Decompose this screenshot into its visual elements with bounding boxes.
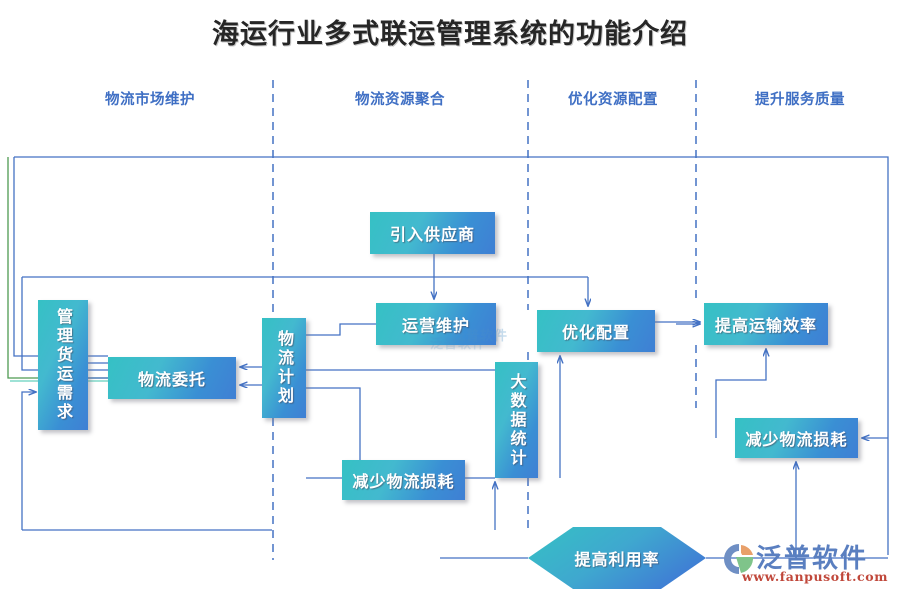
logo-website-url: www.fanpusoft.com — [742, 569, 888, 584]
diagram-canvas: 海运行业多式联运管理系统的功能介绍 物流市场维护物流资源聚合优化资源配置提升服务… — [0, 0, 900, 600]
node-optimize-config[interactable]: 优化配置 — [537, 310, 655, 352]
node-manage-freight-demand[interactable]: 管理货运需求 — [38, 300, 88, 430]
column-header-0: 物流市场维护 — [80, 88, 220, 109]
brand-logo: 泛普软件 www.fanpusoft.com — [722, 538, 892, 594]
node-logistics-entrust[interactable]: 物流委托 — [108, 357, 236, 399]
decision-label: 提高利用率 — [528, 527, 706, 589]
node-operation-maintain[interactable]: 运营维护 — [376, 303, 496, 345]
column-header-3: 提升服务质量 — [730, 88, 870, 109]
column-header-1: 物流资源聚合 — [330, 88, 470, 109]
node-logistics-plan[interactable]: 物流计划 — [262, 318, 306, 418]
page-title: 海运行业多式联运管理系统的功能介绍 — [0, 12, 900, 51]
node-big-data-stats[interactable]: 大数据统计 — [495, 362, 538, 478]
decision-improve-utilization[interactable]: 提高利用率 — [528, 527, 706, 589]
node-reduce-loss-right[interactable]: 减少物流损耗 — [735, 418, 858, 458]
node-improve-efficiency[interactable]: 提高运输效率 — [704, 303, 828, 345]
column-header-2: 优化资源配置 — [543, 88, 683, 109]
node-introduce-supplier[interactable]: 引入供应商 — [370, 212, 495, 254]
node-reduce-loss-center[interactable]: 减少物流损耗 — [342, 460, 465, 500]
